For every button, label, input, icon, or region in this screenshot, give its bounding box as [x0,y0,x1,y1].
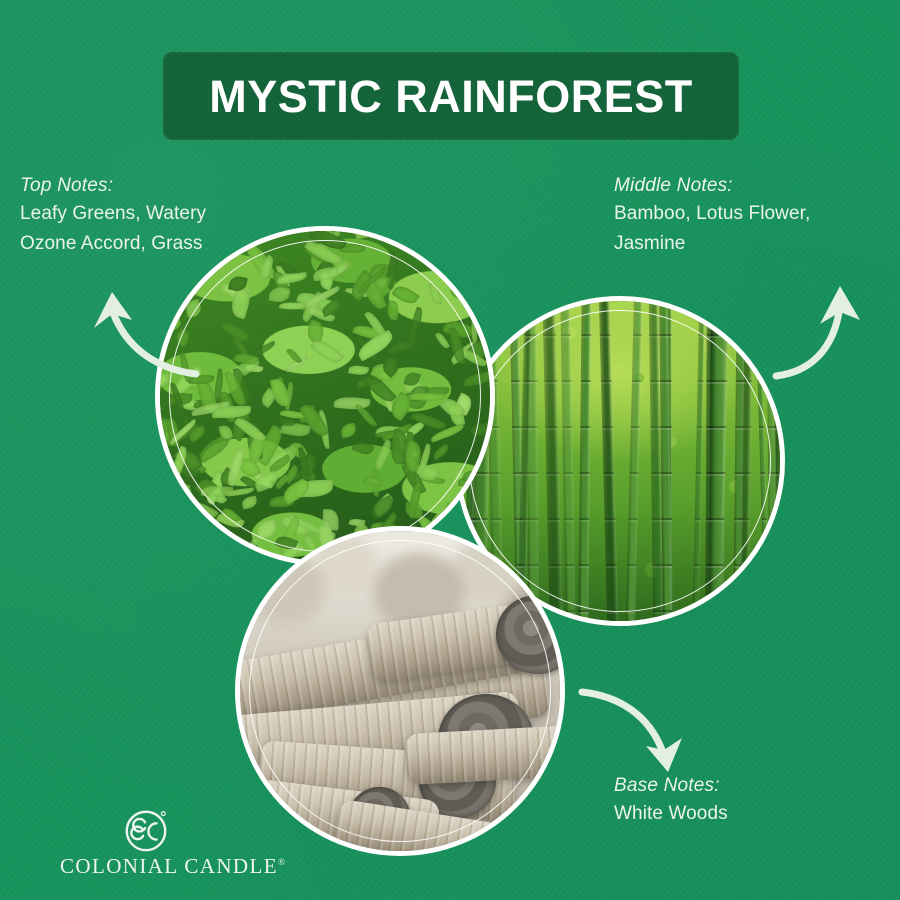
base-notes-body: White Woods [614,799,728,829]
colonial-candle-monogram-icon [122,806,170,854]
middle-notes-body: Bamboo, Lotus Flower, Jasmine [614,199,810,259]
registered-mark: ® [278,857,285,867]
middle-notes-heading: Middle Notes: [614,172,810,199]
image-circle-driftwood [235,526,565,856]
product-scent-card: MYSTIC RAINFOREST Top Notes: Leafy Green… [0,0,900,900]
top-notes-heading: Top Notes: [20,172,206,199]
brand-logo: COLONIAL CANDLE® [60,806,260,882]
leaves-artwork [160,231,490,561]
curved-arrow-up-right-icon [768,262,898,382]
image-circle-leaves [155,226,495,566]
driftwood-artwork [240,531,560,851]
base-notes-heading: Base Notes: [614,772,728,799]
page-title: MYSTIC RAINFOREST [209,74,693,119]
middle-notes-block: Middle Notes: Bamboo, Lotus Flower, Jasm… [614,172,810,259]
brand-wordmark: COLONIAL CANDLE® [60,856,260,877]
title-banner: MYSTIC RAINFOREST [163,52,739,140]
brand-name: COLONIAL CANDLE [60,854,278,878]
base-notes-block: Base Notes: White Woods [614,772,728,829]
